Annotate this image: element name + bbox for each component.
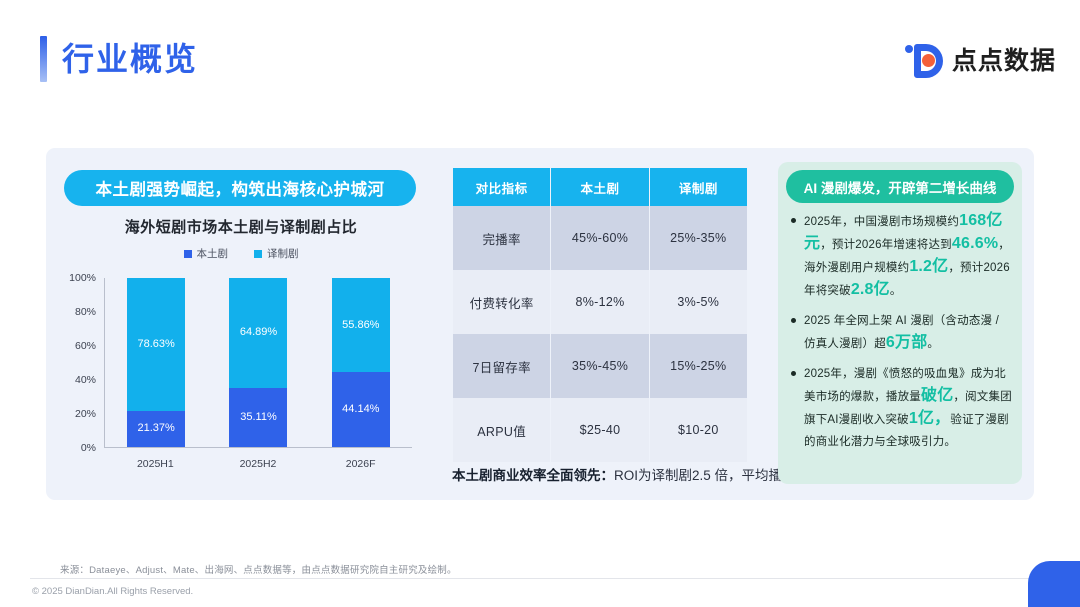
table-cell-local: 35%-45% xyxy=(551,334,648,398)
table-header-row: 对比指标本土剧译制剧 xyxy=(453,168,747,206)
legend-label: 本土剧 xyxy=(197,246,229,261)
y-tick-label: 0% xyxy=(81,442,96,454)
chart-plot: 0%20%40%60%80%100% 78.63%21.37%64.89%35.… xyxy=(58,278,426,478)
y-tick-label: 60% xyxy=(75,340,96,352)
table-cell-dubbed: 3%-5% xyxy=(650,270,747,334)
x-tick-label: 2025H2 xyxy=(229,450,287,470)
logo-inner-dot-icon xyxy=(922,54,935,67)
highlight-value: 1亿， xyxy=(909,410,951,427)
bar-segment-local: 35.11% xyxy=(229,388,287,447)
insight-bullet: 2025年，漫剧《愤怒的吸血鬼》成为北美市场的爆款，播放量破亿，阅文集团旗下AI… xyxy=(788,363,1014,453)
legend-item-1: 本土剧 xyxy=(184,246,229,261)
slide-header: 行业概览 点点数据 xyxy=(0,0,1080,118)
table-row: 付费转化率8%-12%3%-5% xyxy=(453,270,747,334)
table-note-bold: 本土剧商业效率全面领先： xyxy=(452,468,614,483)
bar-group[interactable]: 55.86%44.14% xyxy=(332,278,390,447)
table-column-header: 译制剧 xyxy=(650,168,747,206)
y-axis: 0%20%40%60%80%100% xyxy=(58,278,102,448)
table-row: 完播率45%-60%25%-35% xyxy=(453,206,747,270)
y-tick-label: 20% xyxy=(75,408,96,420)
insight-panel: AI 漫剧爆发，开辟第二增长曲线 2025年，中国漫剧市场规模约168亿元，预计… xyxy=(778,162,1022,484)
x-tick-label: 2025H1 xyxy=(126,450,184,470)
table-cell-local: 8%-12% xyxy=(551,270,648,334)
plot-area: 78.63%21.37%64.89%35.11%55.86%44.14% xyxy=(104,278,412,448)
legend-label: 译制剧 xyxy=(267,246,299,261)
highlight-value: 6万部 xyxy=(886,334,928,351)
title-accent-bar xyxy=(40,36,47,82)
bar-segment-local: 44.14% xyxy=(332,372,390,447)
bar-segment-dubbed: 55.86% xyxy=(332,278,390,372)
bar-segment-dubbed: 78.63% xyxy=(127,278,185,411)
logo-dot-icon xyxy=(905,45,913,53)
bar-series-container: 78.63%21.37%64.89%35.11%55.86%44.14% xyxy=(105,278,412,447)
bar-group[interactable]: 64.89%35.11% xyxy=(229,278,287,447)
chart-title: 海外短剧市场本土剧与译制剧占比 xyxy=(46,216,436,237)
legend-item-2: 译制剧 xyxy=(254,246,299,261)
table-cell-dubbed: 25%-35% xyxy=(650,206,747,270)
table-cell-dubbed: 15%-25% xyxy=(650,334,747,398)
bullet-text: 。 xyxy=(890,285,902,297)
x-tick-label: 2026F xyxy=(332,450,390,470)
highlight-value: 46.6% xyxy=(952,235,998,252)
copyright-note: © 2025 DianDian.All Rights Reserved. xyxy=(32,586,193,597)
chart-banner: 本土剧强势崛起，构筑出海核心护城河 xyxy=(64,170,416,206)
chart-panel: 本土剧强势崛起，构筑出海核心护城河 海外短剧市场本土剧与译制剧占比 本土剧译制剧… xyxy=(46,148,436,500)
chart-legend: 本土剧译制剧 xyxy=(46,246,436,261)
brand-name: 点点数据 xyxy=(952,49,1056,74)
bullet-text: ，预计2026年增速将达到 xyxy=(820,239,952,251)
footer-divider xyxy=(30,578,1050,579)
highlight-value: 1.2亿 xyxy=(909,258,948,275)
comparison-table: 对比指标本土剧译制剧 完播率45%-60%25%-35%付费转化率8%-12%3… xyxy=(452,168,748,462)
x-axis: 2025H12025H22026F xyxy=(104,450,412,474)
y-tick-label: 40% xyxy=(75,374,96,386)
table-column-header: 本土剧 xyxy=(551,168,648,206)
table-cell-metric: 7日留存率 xyxy=(453,334,550,398)
comparison-table-wrapper: 对比指标本土剧译制剧 完播率45%-60%25%-35%付费转化率8%-12%3… xyxy=(452,168,748,462)
page-title: 行业概览 xyxy=(62,36,198,82)
table-cell-metric: 完播率 xyxy=(453,206,550,270)
table-cell-local: 45%-60% xyxy=(551,206,648,270)
legend-swatch-icon xyxy=(184,250,192,258)
highlight-value: 2.8亿 xyxy=(851,281,890,298)
bar-segment-dubbed: 64.89% xyxy=(229,278,287,388)
bullet-text: 2025年，中国漫剧市场规模约 xyxy=(804,216,959,228)
slide-canvas: 点点数据 行业概览 点点数据 本土剧强势崛起，构筑出海核心护城河 海外短剧市场本… xyxy=(0,0,1080,607)
brand-logo: 点点数据 xyxy=(905,42,1056,80)
bullet-text: 。 xyxy=(927,338,939,350)
table-cell-metric: ARPU值 xyxy=(453,398,550,462)
bar-segment-local: 21.37% xyxy=(127,411,185,447)
table-cell-local: $25-40 xyxy=(551,398,648,462)
bar-group[interactable]: 78.63%21.37% xyxy=(127,278,185,447)
source-note: 来源：Dataeye、Adjust、Mate、出海网、点点数据等，由点点数据研究… xyxy=(60,562,660,576)
highlight-value: 破亿 xyxy=(921,387,953,404)
y-tick-label: 80% xyxy=(75,306,96,318)
legend-swatch-icon xyxy=(254,250,262,258)
diandian-d-logo-icon xyxy=(905,43,943,79)
table-row: 7日留存率35%-45%15%-25% xyxy=(453,334,747,398)
table-column-header: 对比指标 xyxy=(453,168,550,206)
insight-bullet: 2025年，中国漫剧市场规模约168亿元，预计2026年增速将达到46.6%，海… xyxy=(788,210,1014,302)
table-row: ARPU值$25-40$10-20 xyxy=(453,398,747,462)
table-cell-dubbed: $10-20 xyxy=(650,398,747,462)
y-tick-label: 100% xyxy=(69,272,96,284)
insight-panel-header: AI 漫剧爆发，开辟第二增长曲线 xyxy=(786,170,1014,203)
table-body: 完播率45%-60%25%-35%付费转化率8%-12%3%-5%7日留存率35… xyxy=(453,206,747,462)
table-cell-metric: 付费转化率 xyxy=(453,270,550,334)
insight-bullet-list: 2025年，中国漫剧市场规模约168亿元，预计2026年增速将达到46.6%，海… xyxy=(788,210,1014,461)
corner-decoration xyxy=(1028,561,1080,607)
insight-bullet: 2025 年全网上架 AI 漫剧（含动态漫 / 仿真人漫剧）超6万部。 xyxy=(788,310,1014,355)
